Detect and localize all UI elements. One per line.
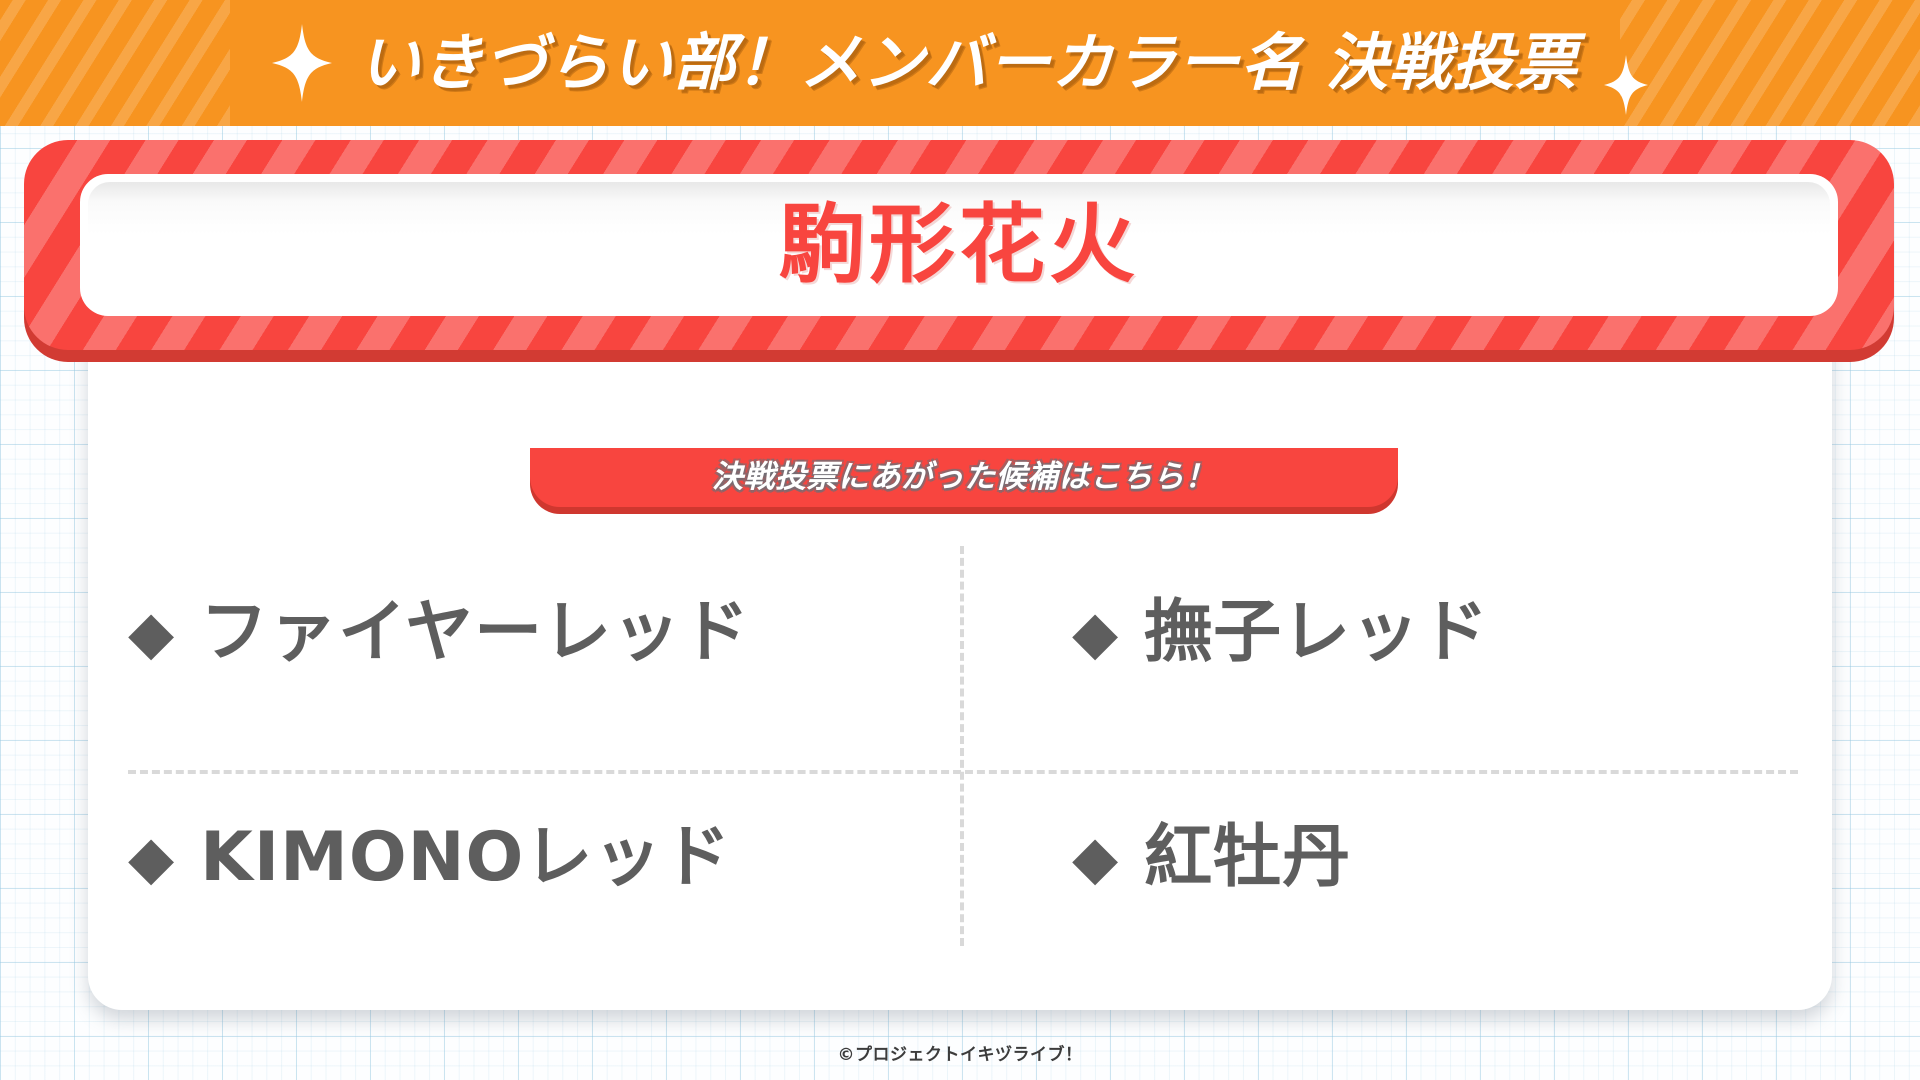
member-name-panel: 駒形花火 <box>24 140 1894 360</box>
candidate-item-4[interactable]: ◆ 紅牡丹 <box>960 745 1832 970</box>
banner-body: 決戦投票にあがった候補はこちら！ <box>530 448 1398 507</box>
diamond-bullet-icon: ◆ <box>1072 603 1118 663</box>
candidate-item-3[interactable]: ◆ KIMONOレッド <box>88 745 960 970</box>
footer: ©プロジェクトイキヅライブ！ <box>0 1040 1920 1065</box>
candidates-banner: 決戦投票にあがった候補はこちら！ <box>530 448 1398 514</box>
diamond-bullet-icon: ◆ <box>128 828 174 888</box>
sparkle-icon <box>1604 55 1648 115</box>
candidate-label: KIMONOレッド <box>200 824 731 892</box>
banner-label: 決戦投票にあがった候補はこちら！ <box>712 462 1216 493</box>
horizontal-divider <box>128 770 1798 774</box>
candidate-item-1[interactable]: ◆ ファイヤーレッド <box>88 520 960 745</box>
candidate-item-2[interactable]: ◆ 撫子レッド <box>960 520 1832 745</box>
sparkle-icon <box>272 24 332 102</box>
candidate-label: 撫子レッド <box>1144 599 1489 667</box>
page-title: いきづらい部！メンバーカラー名 決戦投票 <box>358 32 1578 94</box>
candidate-label: ファイヤーレッド <box>200 599 750 667</box>
vertical-divider <box>960 546 964 946</box>
diamond-bullet-icon: ◆ <box>128 603 174 663</box>
member-name-text: 駒形花火 <box>779 202 1139 288</box>
header-bar: いきづらい部！メンバーカラー名 決戦投票 <box>0 0 1920 126</box>
name-panel-inner: 駒形花火 <box>88 182 1830 308</box>
vote-screen: いきづらい部！メンバーカラー名 決戦投票 駒形花火 決戦投票にあがった候補はこち… <box>0 0 1920 1080</box>
diamond-bullet-icon: ◆ <box>1072 828 1118 888</box>
name-panel-striped-frame: 駒形花火 <box>24 140 1894 350</box>
copyright-text: ©プロジェクトイキヅライブ！ <box>838 1045 1083 1065</box>
candidate-label: 紅牡丹 <box>1144 824 1351 892</box>
